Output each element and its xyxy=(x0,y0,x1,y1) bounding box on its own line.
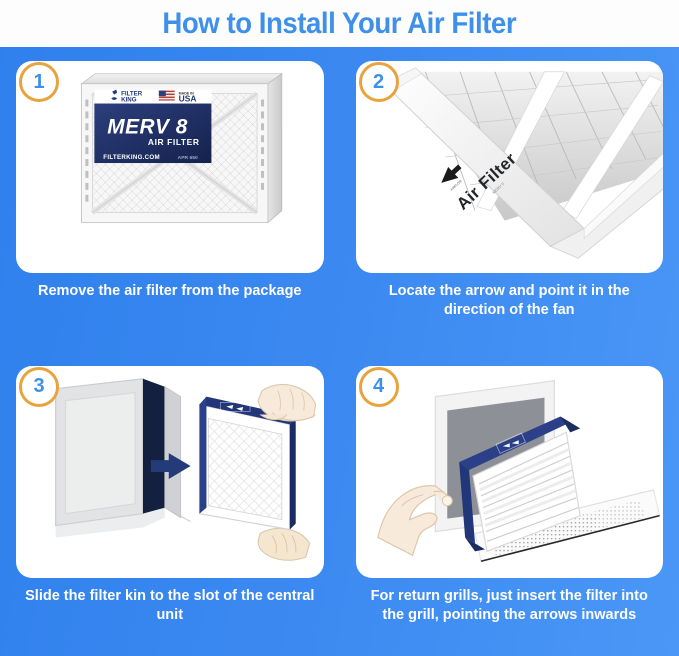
step-number-badge-1: 1 xyxy=(19,62,59,102)
svg-text:MERV 8: MERV 8 xyxy=(107,115,188,138)
step-card-2: 2 xyxy=(356,61,664,273)
step-number-badge-2: 2 xyxy=(359,62,399,102)
step-caption-4: For return grills, just insert the filte… xyxy=(356,587,664,626)
step-panel-2: 2 xyxy=(340,47,679,352)
svg-text:FILTERKING.COM: FILTERKING.COM xyxy=(103,154,160,161)
filter-corner-arrow-photo: AIRFLOW Air Filter MERV 8 xyxy=(356,61,664,273)
merv8-filter-photo: FILTER KING MADE IN xyxy=(16,61,324,273)
insert-filter-return-grill-illustration xyxy=(356,366,664,578)
infographic-poster: How to Install Your Air Filter 1 xyxy=(0,0,679,656)
step-card-3: 3 xyxy=(16,366,324,578)
steps-grid: 1 xyxy=(0,47,679,656)
slide-filter-into-slot-illustration xyxy=(16,366,324,578)
title-bar: How to Install Your Air Filter xyxy=(0,0,679,47)
svg-text:APR 650: APR 650 xyxy=(178,155,198,161)
step-number-badge-3: 3 xyxy=(19,367,59,407)
step-panel-3: 3 xyxy=(0,352,340,656)
step-panel-1: 1 xyxy=(0,47,340,352)
svg-text:KING: KING xyxy=(121,97,137,104)
step-card-1: 1 xyxy=(16,61,324,273)
step-card-4: 4 xyxy=(356,366,664,578)
svg-text:AIR FILTER: AIR FILTER xyxy=(148,137,200,147)
step-panel-4: 4 xyxy=(340,352,679,656)
step-caption-3: Slide the filter kin to the slot of the … xyxy=(16,587,324,626)
page-title: How to Install Your Air Filter xyxy=(163,7,517,41)
step-caption-2: Locate the arrow and point it in the dir… xyxy=(356,282,664,321)
svg-text:USA: USA xyxy=(179,94,197,104)
svg-text:AIRFLOW: AIRFLOW xyxy=(449,179,462,192)
step-number-badge-4: 4 xyxy=(359,367,399,407)
step-caption-1: Remove the air filter from the package xyxy=(16,282,324,301)
